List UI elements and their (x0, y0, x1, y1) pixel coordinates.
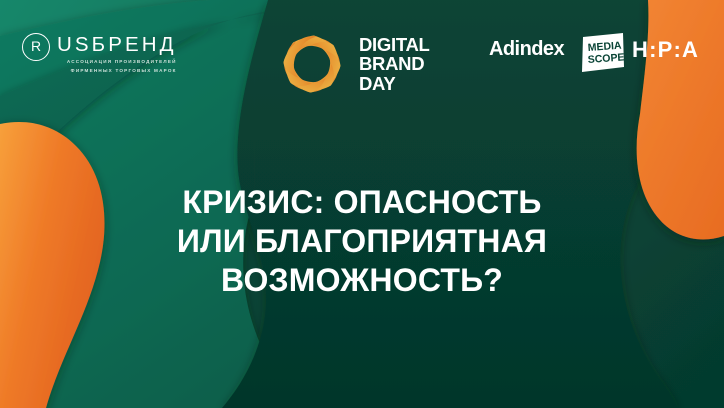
logo-digital-brand-day: DIGITAL BRAND DAY (276, 28, 430, 100)
logo-rusbrand: R USБРЕНД АССОЦИАЦИЯ ПРОИЗВОДИТЕЛЕЙ ФИРМ… (22, 33, 177, 75)
dbd-line-day: DAY (359, 74, 430, 94)
digital-brand-day-wordmark: DIGITAL BRAND DAY (359, 35, 430, 94)
headline-line-2: ИЛИ БЛАГОПРИЯТНАЯ (0, 222, 724, 261)
registered-r-icon: R (22, 33, 50, 61)
presentation-slide: R USБРЕНД АССОЦИАЦИЯ ПРОИЗВОДИТЕЛЕЙ ФИРМ… (0, 0, 724, 408)
sponsor-logo-bar: R USБРЕНД АССОЦИАЦИЯ ПРОИЗВОДИТЕЛЕЙ ФИРМ… (0, 0, 724, 112)
dbd-line-digital: DIGITAL (359, 35, 430, 55)
logo-adindex: Adindex (489, 38, 564, 61)
logo-hpa: H:P:A (632, 37, 699, 63)
rusbrand-text-block: USБРЕНД АССОЦИАЦИЯ ПРОИЗВОДИТЕЛЕЙ ФИРМЕН… (57, 34, 177, 75)
headline-line-3: ВОЗМОЖНОСТЬ? (0, 261, 724, 300)
mediascope-line-scope: SCOPE (587, 51, 625, 66)
octagonal-petal-ring-icon (276, 28, 348, 100)
rusbrand-tagline-line1: АССОЦИАЦИЯ ПРОИЗВОДИТЕЛЕЙ (57, 59, 177, 65)
logo-mediascope: MEDIA SCOPE (580, 33, 626, 73)
headline-line-1: КРИЗИС: ОПАСНОСТЬ (0, 183, 724, 222)
slide-headline: КРИЗИС: ОПАСНОСТЬ ИЛИ БЛАГОПРИЯТНАЯ ВОЗМ… (0, 183, 724, 300)
rusbrand-wordmark: USБРЕНД (57, 34, 177, 56)
mediascope-mark-icon: MEDIA SCOPE (580, 33, 626, 73)
rusbrand-tagline-line2: ФИРМЕННЫХ ТОРГОВЫХ МАРОК (57, 68, 177, 74)
dbd-line-brand: BRAND (359, 54, 430, 74)
